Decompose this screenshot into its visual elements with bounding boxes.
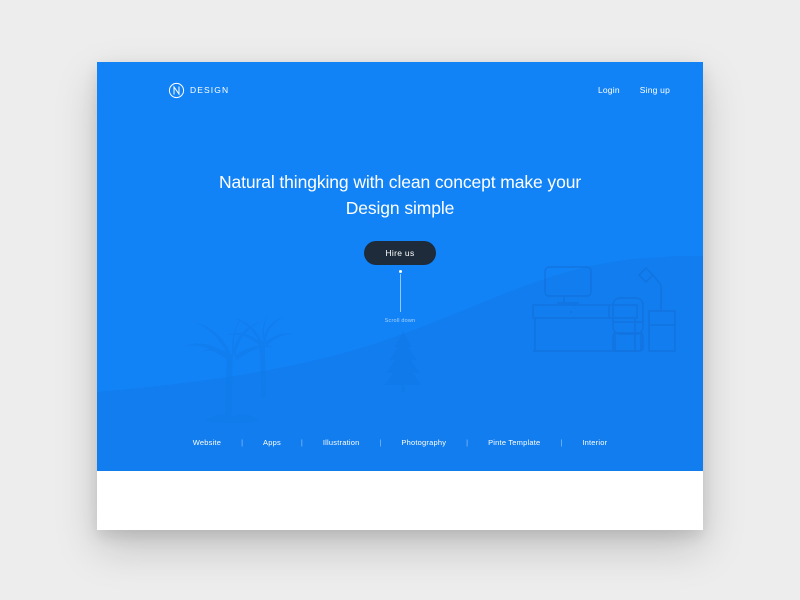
screenshot-stage: DESIGN Login Sing up Natural thingking w… [0, 0, 800, 600]
scroll-line-icon [400, 274, 401, 312]
hero-copy: Natural thingking with clean concept mak… [97, 170, 703, 265]
hero-illustration [97, 62, 703, 471]
category-link-photography[interactable]: Photography [381, 438, 466, 447]
hire-us-button[interactable]: Hire us [364, 241, 435, 265]
circle-n-logo-icon [168, 82, 185, 99]
palm-trees-silhouette [183, 314, 295, 423]
scroll-down-indicator[interactable]: Scroll down [97, 270, 703, 324]
primary-nav: Login Sing up [598, 85, 670, 95]
brand-name: DESIGN [190, 85, 229, 95]
scroll-dot-icon [399, 270, 402, 273]
hero-section: DESIGN Login Sing up Natural thingking w… [97, 62, 703, 471]
category-link-website[interactable]: Website [173, 438, 241, 447]
content-section-below-hero [97, 471, 703, 530]
site-header: DESIGN Login Sing up [97, 62, 703, 118]
nav-link-login[interactable]: Login [598, 85, 620, 95]
nav-link-signup[interactable]: Sing up [640, 85, 670, 95]
category-link-interior[interactable]: Interior [562, 438, 627, 447]
pine-tree-silhouette [385, 330, 421, 392]
category-bar: Website | Apps | Illustration | Photogra… [97, 438, 703, 447]
brand-logo[interactable]: DESIGN [168, 82, 229, 99]
scroll-down-label: Scroll down [385, 318, 416, 324]
office-chair-seat [613, 322, 643, 351]
cta-wrapper: Hire us [97, 241, 703, 265]
category-link-apps[interactable]: Apps [243, 438, 301, 447]
category-link-illustration[interactable]: Illustration [303, 438, 380, 447]
headline-line-1: Natural thingking with clean concept mak… [97, 170, 703, 196]
office-chair-base [613, 333, 643, 351]
category-link-pinte-template[interactable]: Pinte Template [468, 438, 560, 447]
headline-line-2: Design simple [97, 196, 703, 222]
website-mockup-card: DESIGN Login Sing up Natural thingking w… [97, 62, 703, 530]
